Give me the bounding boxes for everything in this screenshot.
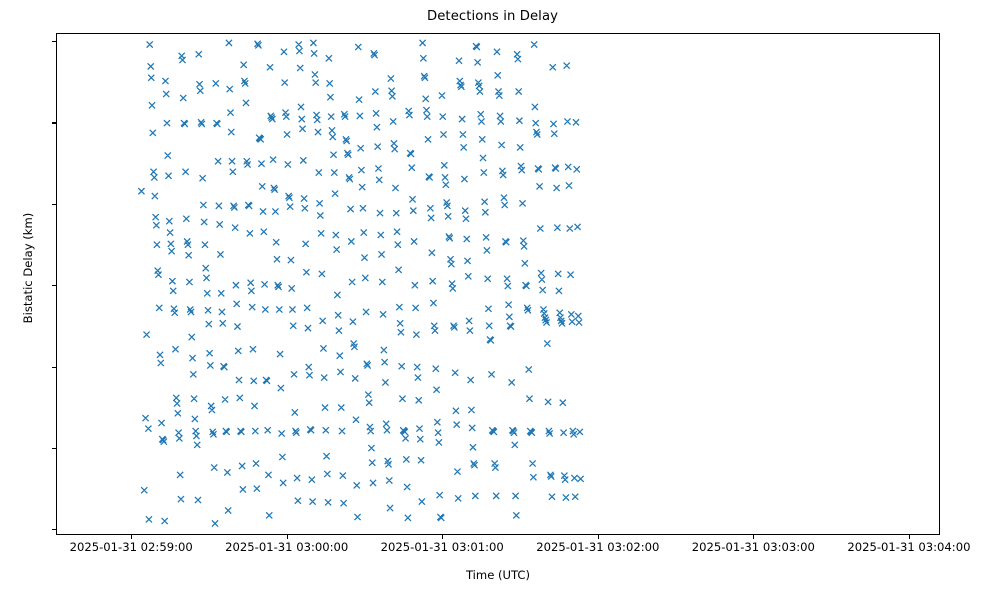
x-tick-label: 2025-01-31 03:02:00 — [536, 540, 659, 554]
x-tick-mark — [598, 535, 599, 539]
x-tick-label: 2025-01-31 03:00:00 — [225, 540, 348, 554]
plot-area[interactable] — [56, 33, 940, 535]
x-axis-label: Time (UTC) — [56, 568, 940, 582]
x-tick-mark — [131, 535, 132, 539]
x-tick-label: 2025-01-31 03:01:00 — [381, 540, 504, 554]
page-title: Detections in Delay — [0, 9, 985, 24]
x-tick-label: 2025-01-31 03:03:00 — [692, 540, 815, 554]
x-tick-label: 2025-01-31 03:04:00 — [847, 540, 970, 554]
x-tick-label: 2025-01-31 02:59:00 — [70, 540, 193, 554]
y-axis-label: Bistatic Delay (km) — [21, 108, 35, 428]
x-tick-mark — [909, 535, 910, 539]
scatter-points — [138, 40, 583, 527]
scatter-marker-layer — [57, 34, 939, 534]
x-tick-mark — [287, 535, 288, 539]
x-tick-mark — [753, 535, 754, 539]
figure-canvas: Detections in Delay Bistatic Delay (km) … — [0, 0, 985, 590]
x-tick-mark — [442, 535, 443, 539]
